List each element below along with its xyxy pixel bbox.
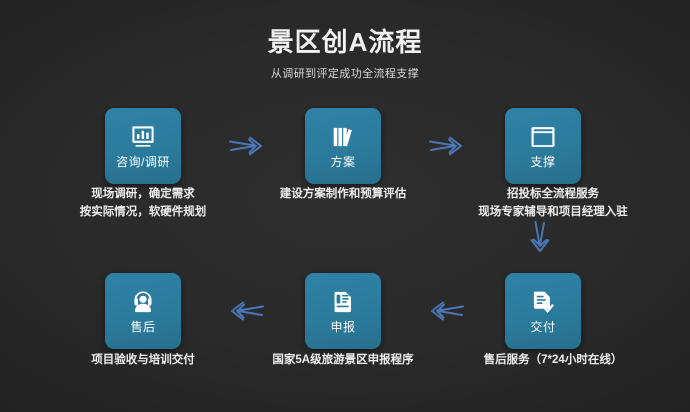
bar-chart-icon: [130, 124, 156, 150]
flow-step-label: 交付: [530, 321, 555, 333]
caption-line: 售后服务（7*24小时在线）: [484, 352, 623, 370]
flow-step-card-application[interactable]: 申报: [305, 273, 381, 349]
page-title: 景区创A流程: [0, 28, 690, 58]
flow-step-caption-consultation: 现场调研，确定需求 按实际情况，软硬件规划: [80, 186, 207, 222]
flow-step-caption-aftersales: 项目验收与培训交付: [91, 352, 195, 370]
flow-step-card-consultation[interactable]: 咨询/调研: [105, 108, 181, 184]
flow-step-caption-support: 招投标全流程服务 现场专家辅导和项目经理入驻: [478, 186, 628, 222]
caption-line: 国家5A级旅游景区申报程序: [272, 352, 413, 370]
arrow-down-icon-connector-3: [527, 220, 553, 260]
flow-step-caption-plan: 建设方案制作和预算评估: [280, 186, 407, 204]
flow-step-card-aftersales[interactable]: 售后: [105, 273, 181, 349]
headset-support-icon: [130, 289, 156, 315]
caption-line: 按实际情况，软硬件规划: [80, 204, 207, 222]
flow-step-label: 咨询/调研: [116, 156, 170, 168]
flow-diagram-canvas: 景区创A流程 从调研到评定成功全流程支撑 咨询/调研 现场调研，确定需求 按实际…: [0, 0, 690, 412]
flow-step-label: 支撑: [530, 156, 555, 168]
document-check-icon: [530, 289, 556, 315]
caption-line: 建设方案制作和预算评估: [280, 186, 407, 204]
arrow-right-icon-connector-1: [228, 133, 274, 159]
page-subtitle: 从调研到评定成功全流程支撑: [0, 65, 690, 81]
arrow-left-icon-connector-4: [419, 298, 465, 324]
flow-step-label: 售后: [130, 321, 155, 333]
window-package-icon: [530, 124, 556, 150]
caption-line: 招投标全流程服务: [478, 186, 628, 204]
flow-step-card-plan[interactable]: 方案: [305, 108, 381, 184]
caption-line: 项目验收与培训交付: [91, 352, 195, 370]
flow-step-label: 方案: [330, 156, 355, 168]
flow-step-caption-application: 国家5A级旅游景区申报程序: [272, 352, 413, 370]
header: 景区创A流程 从调研到评定成功全流程支撑: [0, 28, 690, 81]
flow-step-card-support[interactable]: 支撑: [505, 108, 581, 184]
books-icon: [330, 124, 356, 150]
arrow-left-icon-connector-5: [219, 298, 265, 324]
caption-line: 现场专家辅导和项目经理入驻: [478, 204, 628, 222]
caption-line: 现场调研，确定需求: [80, 186, 207, 204]
flow-step-card-delivery[interactable]: 交付: [505, 273, 581, 349]
flow-step-caption-delivery: 售后服务（7*24小时在线）: [484, 352, 623, 370]
document-lines-icon: [330, 289, 356, 315]
arrow-right-icon-connector-2: [428, 133, 474, 159]
flow-step-label: 申报: [330, 321, 355, 333]
